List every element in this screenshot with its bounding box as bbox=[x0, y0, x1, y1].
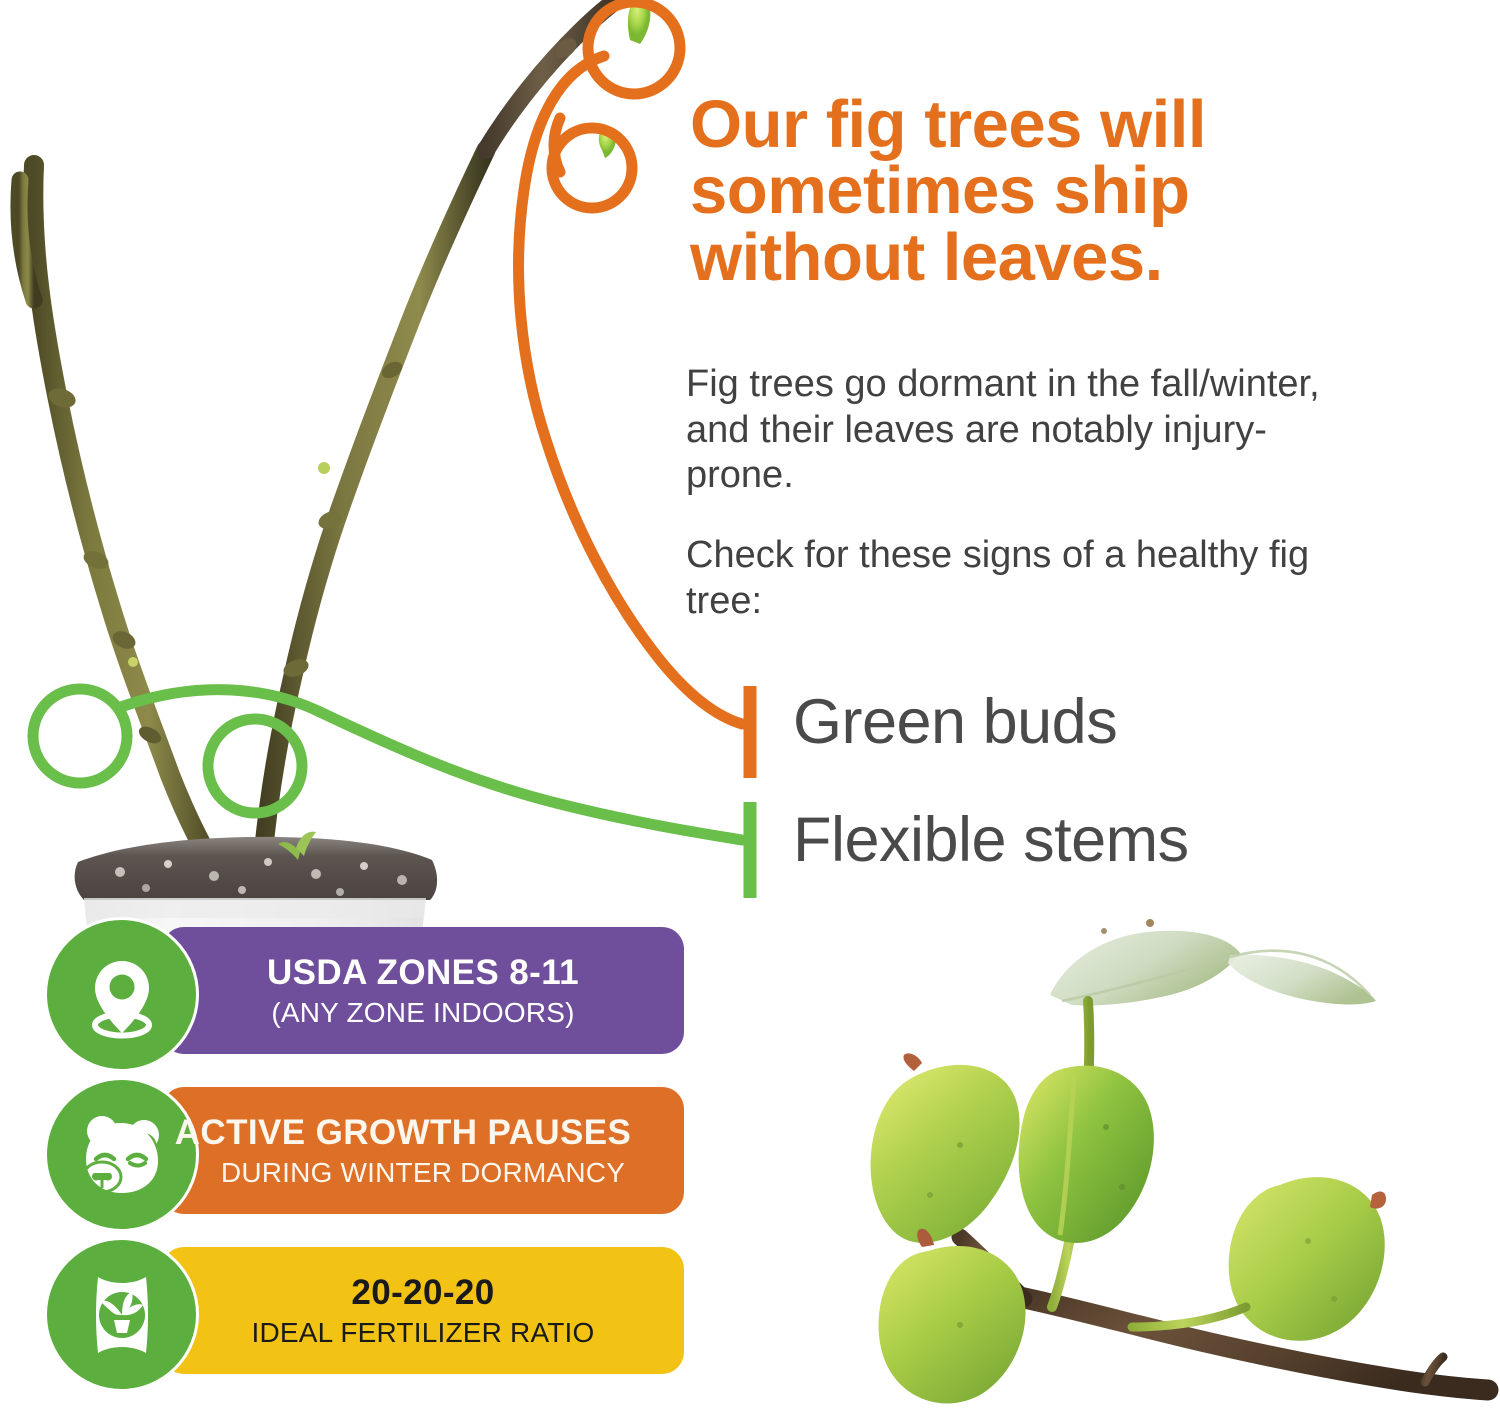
sign-label-flexible-stems: Flexible stems bbox=[793, 804, 1189, 876]
badge-subtitle: DURING WINTER DORMANCY bbox=[221, 1159, 625, 1187]
dormant-plant-photo bbox=[0, 0, 700, 960]
badge-subtitle: (ANY ZONE INDOORS) bbox=[271, 999, 574, 1027]
badge-usda-zones: USDA ZONES 8-11 (ANY ZONE INDOORS) bbox=[44, 917, 684, 1064]
hibernating-bear-icon bbox=[44, 1077, 199, 1232]
badge-title: ACTIVE GROWTH PAUSES bbox=[175, 1115, 632, 1150]
fertilizer-bag-icon bbox=[44, 1237, 199, 1392]
sign-label-green-buds: Green buds bbox=[793, 686, 1117, 758]
fig-tree-care-infographic: Our fig trees will sometimes ship withou… bbox=[0, 0, 1500, 1412]
badge-pill: ACTIVE GROWTH PAUSES DURING WINTER DORMA… bbox=[162, 1087, 684, 1214]
care-badge-list: USDA ZONES 8-11 (ANY ZONE INDOORS) ACTIV… bbox=[44, 917, 684, 1397]
map-pin-icon bbox=[44, 917, 199, 1072]
badge-title: USDA ZONES 8-11 bbox=[267, 955, 579, 990]
body-paragraph-2: Check for these signs of a healthy fig t… bbox=[686, 533, 1326, 624]
badge-subtitle: IDEAL FERTILIZER RATIO bbox=[251, 1319, 594, 1347]
body-paragraph-1: Fig trees go dormant in the fall/winter,… bbox=[686, 362, 1326, 499]
badge-winter-dormancy: ACTIVE GROWTH PAUSES DURING WINTER DORMA… bbox=[44, 1077, 684, 1224]
badge-pill: 20-20-20 IDEAL FERTILIZER RATIO bbox=[162, 1247, 684, 1374]
badge-pill: USDA ZONES 8-11 (ANY ZONE INDOORS) bbox=[162, 927, 684, 1054]
badge-title: 20-20-20 bbox=[351, 1275, 494, 1310]
fig-fruit-photo bbox=[810, 895, 1500, 1412]
page-headline: Our fig trees will sometimes ship withou… bbox=[690, 92, 1390, 291]
badge-fertilizer-ratio: 20-20-20 IDEAL FERTILIZER RATIO bbox=[44, 1237, 684, 1384]
